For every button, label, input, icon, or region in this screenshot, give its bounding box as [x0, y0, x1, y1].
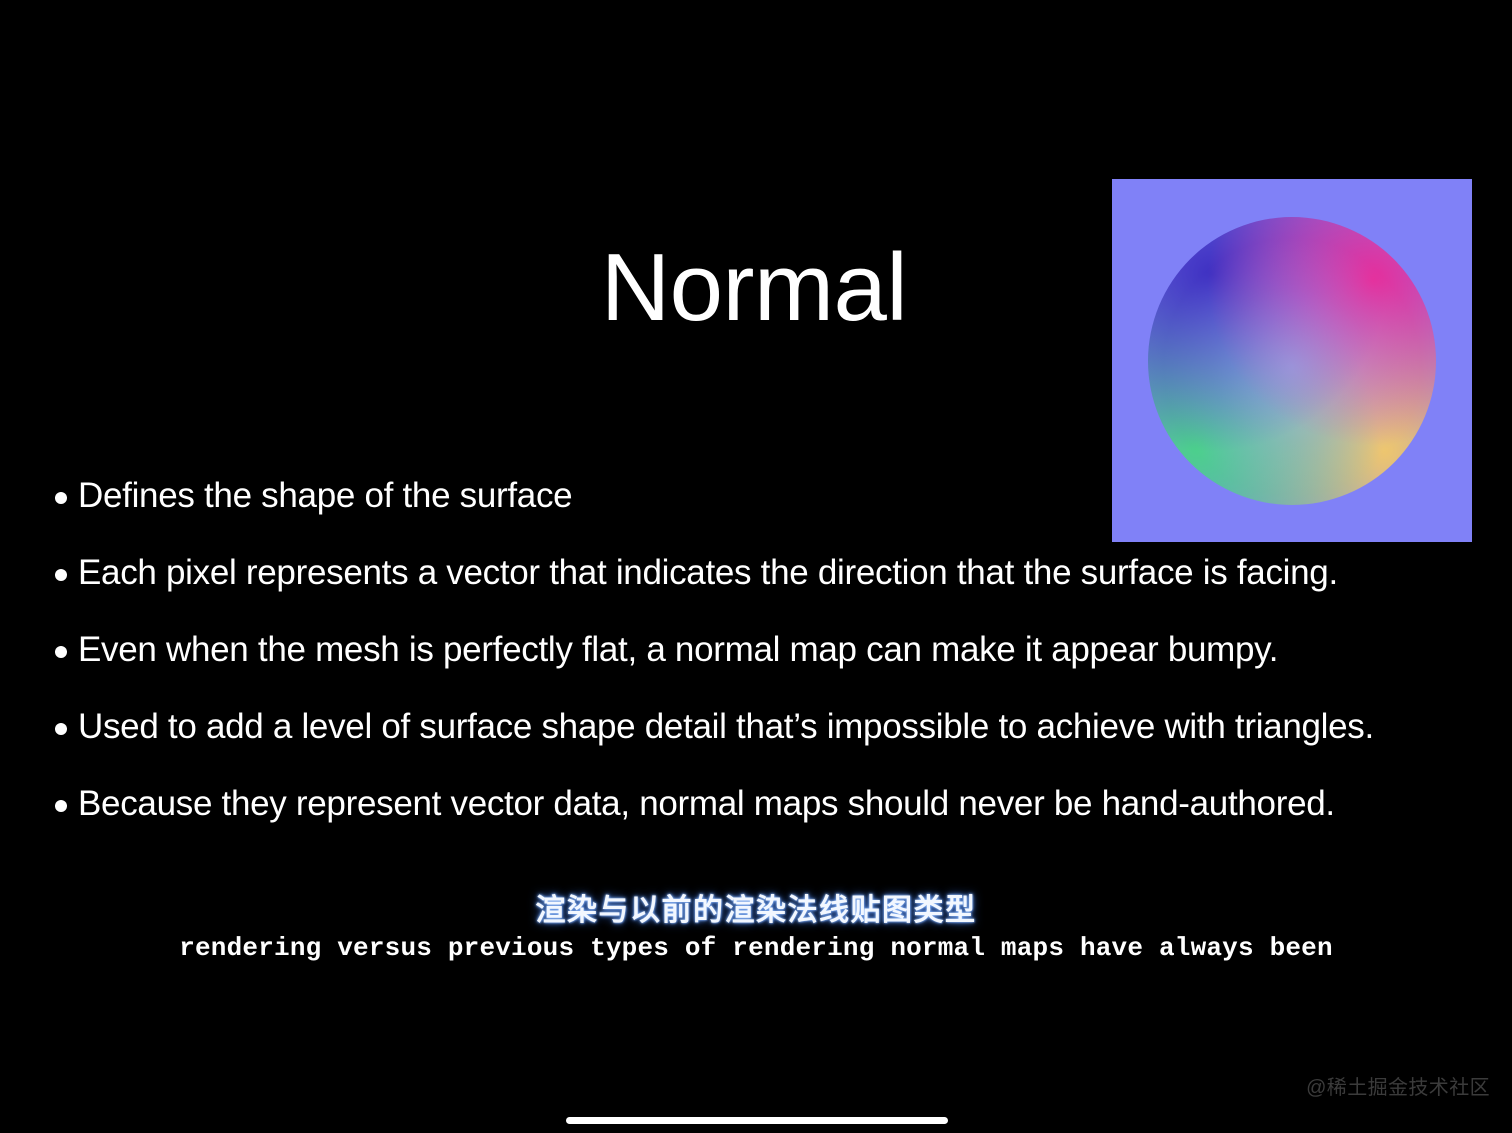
list-item-label: Even when the mesh is perfectly flat, a …	[78, 628, 1455, 672]
home-indicator[interactable]	[566, 1117, 948, 1124]
bullet-dot-icon	[55, 492, 67, 504]
bullet-dot-icon	[55, 723, 67, 735]
bullet-dot-icon	[55, 800, 67, 812]
list-item-label: Because they represent vector data, norm…	[78, 782, 1455, 826]
bullet-dot-icon	[55, 569, 67, 581]
list-item: Even when the mesh is perfectly flat, a …	[55, 628, 1455, 672]
list-item: Used to add a level of surface shape det…	[55, 705, 1455, 749]
watermark: @稀土掘金技术社区	[1306, 1078, 1490, 1098]
presentation-slide: Normal Defines the shape of the surface …	[0, 0, 1512, 1133]
list-item-label: Defines the shape of the surface	[78, 474, 1455, 518]
subtitle-overlay: 渲染与以前的渲染法线贴图类型 rendering versus previous…	[0, 893, 1512, 965]
bullet-list: Defines the shape of the surface Each pi…	[55, 474, 1455, 859]
list-item: Each pixel represents a vector that indi…	[55, 551, 1455, 595]
list-item: Defines the shape of the surface	[55, 474, 1455, 518]
subtitle-english: rendering versus previous types of rende…	[0, 933, 1512, 964]
normal-map-sphere-icon	[1148, 217, 1436, 505]
list-item-label: Each pixel represents a vector that indi…	[78, 551, 1455, 595]
bullet-dot-icon	[55, 646, 67, 658]
list-item: Because they represent vector data, norm…	[55, 782, 1455, 826]
subtitle-chinese: 渲染与以前的渲染法线贴图类型	[0, 893, 1512, 928]
list-item-label: Used to add a level of surface shape det…	[78, 705, 1455, 749]
